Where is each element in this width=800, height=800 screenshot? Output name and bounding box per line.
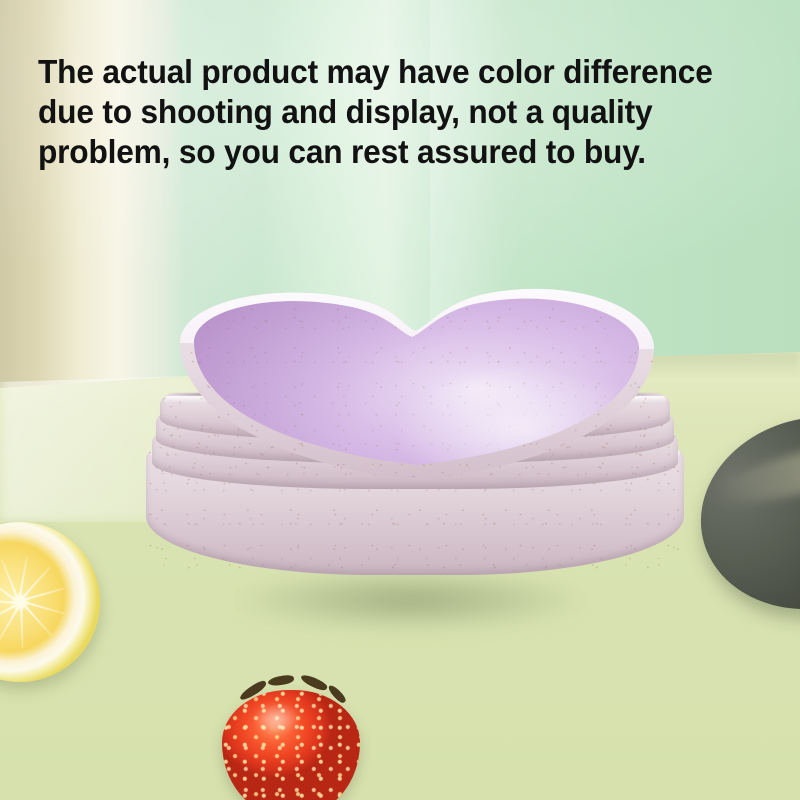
heart-plate-stack xyxy=(150,285,680,630)
strawberry-highlight xyxy=(250,703,316,748)
disclaimer-line-1: The actual product may have color differ… xyxy=(38,52,750,92)
plate-layer-1-top xyxy=(150,285,680,485)
disclaimer-line-2: due to shooting and display, not a quali… xyxy=(38,92,750,132)
disclaimer-text: The actual product may have color differ… xyxy=(38,52,750,172)
disclaimer-line-3: problem, so you can rest assured to buy. xyxy=(38,132,750,172)
strawberry xyxy=(222,690,360,800)
heart-cavity-shading xyxy=(150,285,680,485)
product-image-canvas: The actual product may have color differ… xyxy=(0,0,800,800)
